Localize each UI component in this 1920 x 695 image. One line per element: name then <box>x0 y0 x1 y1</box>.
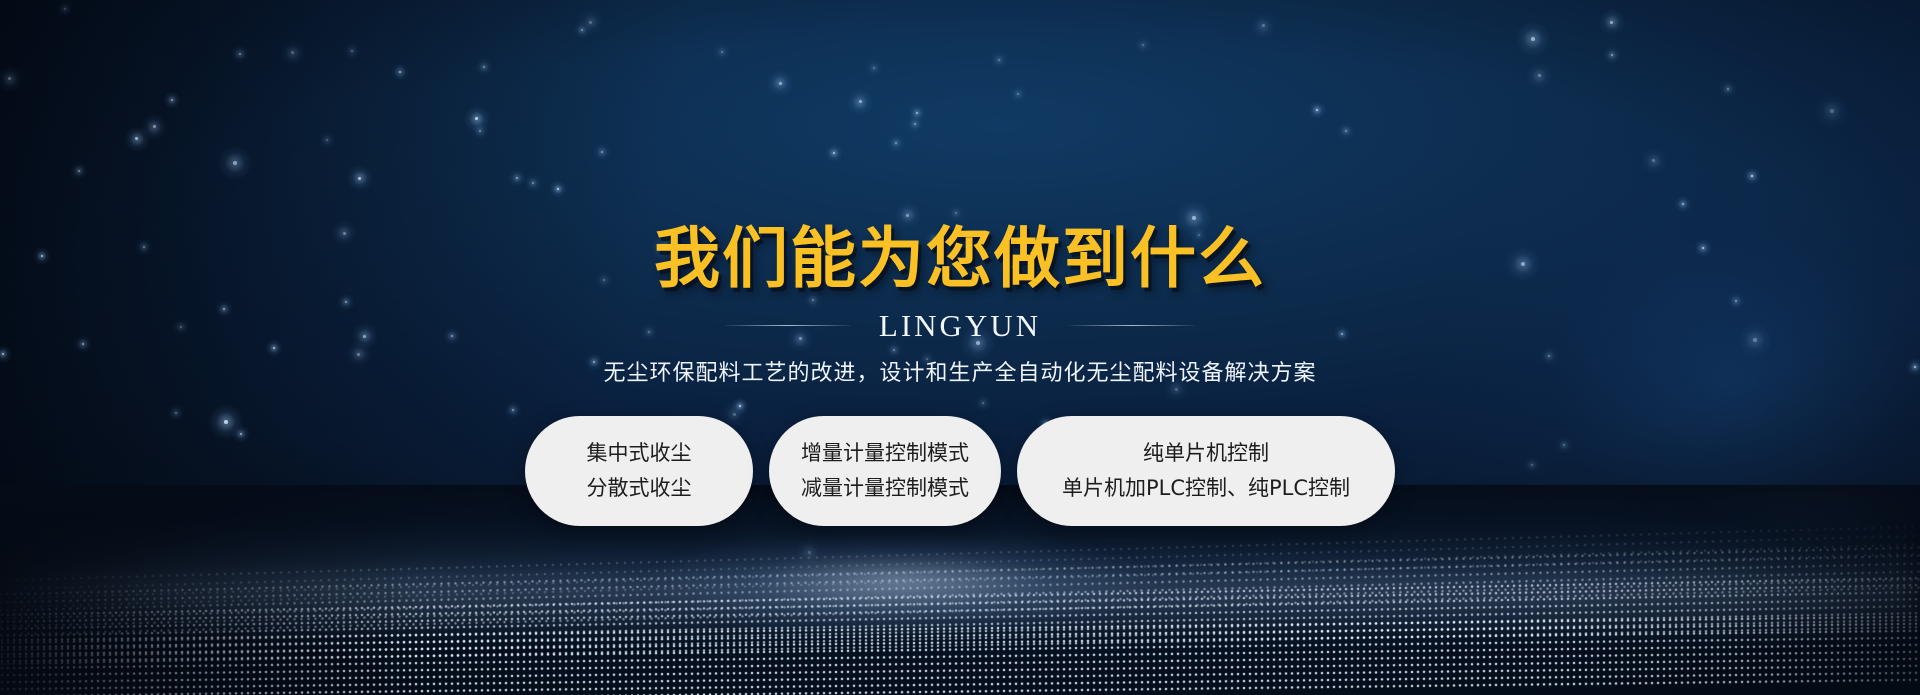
feature-pill-group: 集中式收尘 分散式收尘 增量计量控制模式 减量计量控制模式 纯单片机控制 单片机… <box>525 416 1395 526</box>
feature-pill-metering-mode[interactable]: 增量计量控制模式 减量计量控制模式 <box>769 416 1001 526</box>
divider-line-left <box>725 325 851 326</box>
hero-banner: 我们能为您做到什么 LINGYUN 无尘环保配料工艺的改进，设计和生产全自动化无… <box>0 0 1920 695</box>
page-subtitle: 无尘环保配料工艺的改进，设计和生产全自动化无尘配料设备解决方案 <box>603 363 1316 385</box>
brand-name: LINGYUN <box>879 310 1041 341</box>
feature-pill-control-system[interactable]: 纯单片机控制 单片机加PLC控制、纯PLC控制 <box>1017 416 1395 526</box>
pill-line: 集中式收尘 <box>587 443 692 464</box>
banner-content: 我们能为您做到什么 LINGYUN 无尘环保配料工艺的改进，设计和生产全自动化无… <box>0 0 1920 695</box>
brand-eyebrow: LINGYUN <box>725 310 1195 341</box>
pill-line: 增量计量控制模式 <box>801 443 969 464</box>
pill-line: 减量计量控制模式 <box>801 478 969 499</box>
feature-pill-dust-collection[interactable]: 集中式收尘 分散式收尘 <box>525 416 753 526</box>
pill-line: 单片机加PLC控制、纯PLC控制 <box>1062 478 1350 499</box>
pill-line: 纯单片机控制 <box>1143 443 1269 464</box>
pill-line: 分散式收尘 <box>587 478 692 499</box>
page-title: 我们能为您做到什么 <box>654 226 1266 292</box>
divider-line-right <box>1069 325 1195 326</box>
